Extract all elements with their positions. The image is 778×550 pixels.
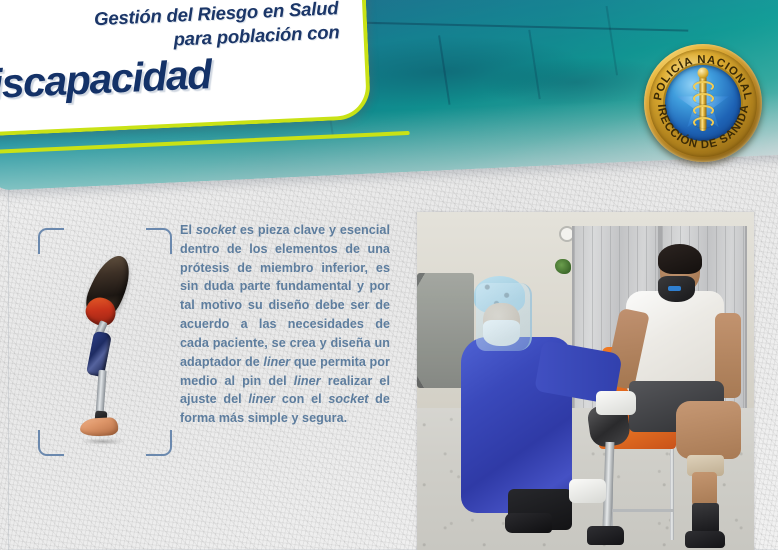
photo-chair-rail: [609, 509, 673, 512]
body-paragraph: El socket es pieza clave y esencial dent…: [180, 221, 390, 428]
photo-plant: [555, 259, 571, 274]
photo-chair-leg: [670, 449, 674, 540]
photo-clinician-glove-upper: [596, 391, 636, 415]
prosthesis-drop-shadow: [80, 438, 126, 445]
photo-fitted-prosthesis-foot: [587, 526, 624, 545]
asclepius-rod-top-knob: [698, 68, 709, 79]
photo-patient-mask-logo: [668, 286, 681, 291]
page-canvas: Gestión del Riesgo en Salud para poblaci…: [0, 0, 778, 550]
prosthesis-foot: [80, 417, 119, 437]
corner-bracket-top-right-icon: [146, 228, 172, 254]
photo-clinician-shoe: [505, 513, 552, 533]
photo-clinician-glove-lower: [569, 479, 606, 503]
prosthesis-figure-panel: [34, 214, 172, 464]
corner-bracket-bottom-right-icon: [146, 430, 172, 456]
asclepius-rod-icon: [700, 75, 707, 131]
photo-patient-thigh: [676, 401, 740, 458]
corner-bracket-top-left-icon: [38, 228, 64, 254]
photo-scene: [417, 212, 754, 550]
title-group: Gestión del Riesgo en Salud para poblaci…: [8, 0, 342, 107]
corner-bracket-bottom-left-icon: [38, 430, 64, 456]
photo-patient-shoe: [685, 531, 725, 548]
prosthesis-leg-illustration: [78, 250, 134, 436]
clinical-photo: [417, 212, 754, 550]
photo-patient-hair: [658, 244, 702, 274]
photo-clinician-face-shield: [476, 283, 532, 351]
policia-nacional-seal: POLICÍA NACIONAL DIRECCIÓN DE SANIDAD: [644, 44, 762, 162]
photo-patient-shin: [692, 472, 717, 506]
photo-patient-sock: [692, 503, 719, 533]
left-margin-rule: [8, 178, 9, 550]
photo-clinician-gown-folds: [471, 395, 552, 503]
title-card: Gestión del Riesgo en Salud para poblaci…: [0, 0, 371, 138]
